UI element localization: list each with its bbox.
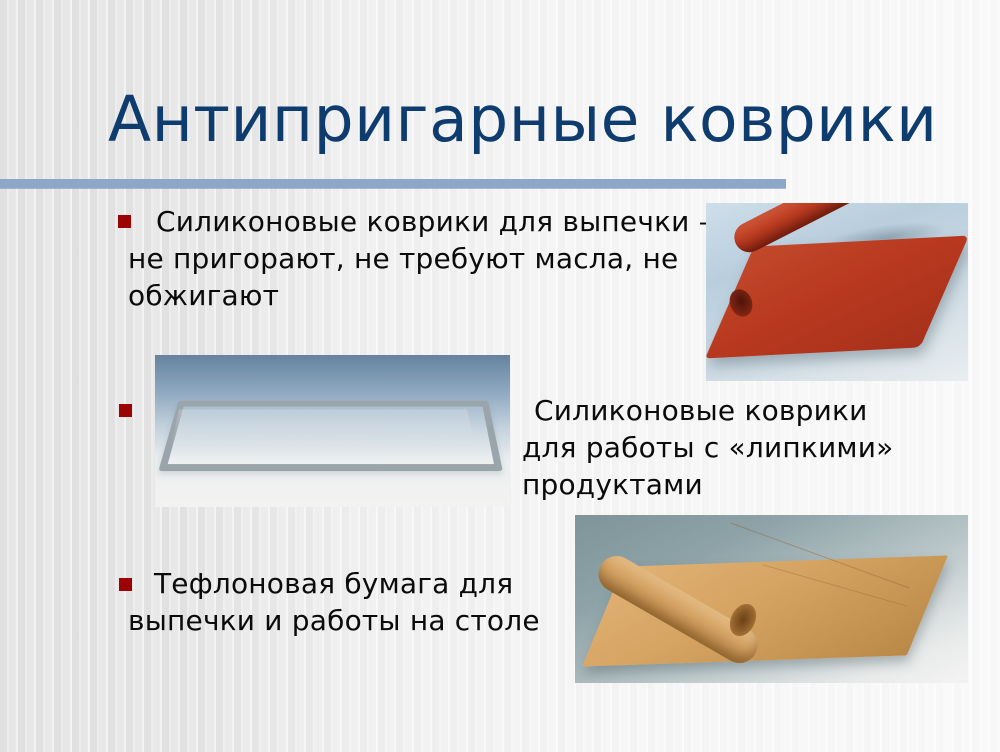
slide-title: Антипригарные коврики — [108, 82, 988, 158]
white-silicone-sticky-mat-photo — [155, 355, 510, 507]
title-underline-rule — [0, 179, 786, 188]
bullet-text-1: Силиконовые коврики для выпечки – не при… — [128, 203, 713, 314]
bullet-text-3: Тефлоновая бумага для выпечки и работы н… — [128, 565, 568, 639]
teflon-baking-paper-photo — [575, 515, 968, 683]
white-mat-gloss — [171, 410, 475, 446]
bullet-square-icon — [119, 404, 132, 417]
bullet-text-2: Силиконовые коврики для работы с «липким… — [522, 392, 922, 503]
presentation-slide: Антипригарные коврики Силиконовые коврик… — [0, 0, 1000, 752]
red-silicone-baking-mat-photo — [706, 203, 968, 381]
